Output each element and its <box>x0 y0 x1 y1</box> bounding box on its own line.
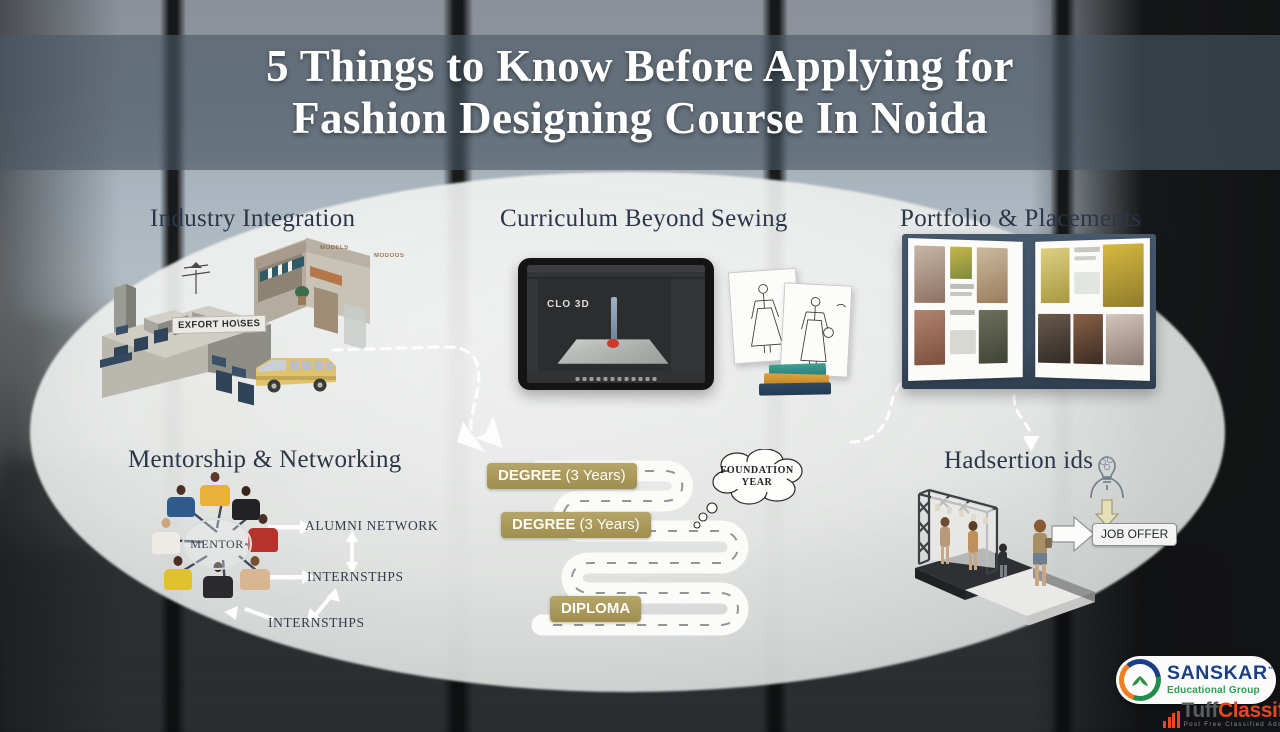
sanskar-leaf-glyph <box>1130 675 1150 687</box>
tuff-wordmark: TuffClassified Post Free Classified Ads … <box>1182 700 1280 728</box>
title-line-1: 5 Things to Know Before Applying for <box>0 40 1280 92</box>
foundation-year-text: FOUNDATION YEAR <box>707 449 807 505</box>
roadmap-label-diploma: DIPLOMA <box>550 596 641 622</box>
bubble-line-2: YEAR <box>742 477 773 489</box>
sanskar-name: SANSKAR™ <box>1167 664 1275 684</box>
title-line-2: Fashion Designing Course In Noida <box>0 92 1280 144</box>
section-heading-industry-integration: Industry Integration <box>150 205 355 233</box>
fashion-runway-illustration <box>905 460 1120 625</box>
sanskar-emblem-icon <box>1119 659 1161 701</box>
network-avatar <box>240 556 270 590</box>
portfolio-book <box>902 234 1156 389</box>
tuff-name-part-1: Tuff <box>1182 699 1218 722</box>
section-heading-mentorship-networking: Mentorship & Networking <box>128 446 402 474</box>
mentor-node-label: MENTOR <box>190 537 243 552</box>
cad-software-logo: CLO 3D <box>547 299 590 310</box>
sanskar-name-text: SANSKAR <box>1167 662 1268 684</box>
thought-bubble-tail <box>690 502 720 536</box>
section-heading-portfolio-placements: Portfolio & Placements <box>900 205 1141 233</box>
job-offer-badge: JOB OFFER <box>1092 523 1177 546</box>
section-heading-curriculum-beyond-sewing: Curriculum Beyond Sewing <box>500 205 788 233</box>
page-title: 5 Things to Know Before Applying for Fas… <box>0 40 1280 144</box>
book-navy <box>759 382 831 395</box>
sanskar-educational-group-logo: SANSKAR™ Educational Group <box>1116 656 1276 704</box>
roadmap-label-degree-1: DEGREE (3 Years) <box>487 463 637 489</box>
tablet-screen: CLO 3D <box>527 265 705 383</box>
tablet-device: CLO 3D <box>518 258 714 390</box>
portfolio-page-left <box>908 238 1023 381</box>
network-avatar <box>164 556 192 590</box>
foundation-year-thought-bubble: FOUNDATION YEAR <box>707 449 807 505</box>
mentor-node: MENTOR <box>182 518 252 570</box>
network-avatar <box>248 514 278 552</box>
network-avatar <box>167 485 195 517</box>
roadmap-label-degree-1-bold: DEGREE <box>498 467 561 484</box>
roadmap-label-diploma-bold: DIPLOMA <box>561 600 630 617</box>
tablet-taskbar-icons <box>576 377 657 381</box>
network-avatar <box>152 518 180 554</box>
roadmap-label-degree-1-duration: (3 Years) <box>561 467 625 484</box>
network-label-internships-1: INTERNSTHPS <box>307 569 404 585</box>
roadmap-label-degree-2-duration: (3 Years) <box>575 516 639 533</box>
tuff-name: TuffClassified <box>1182 700 1280 721</box>
section-heading-placement-aids: Hadsertion ids <box>944 447 1093 475</box>
tuff-name-part-2: Classified <box>1218 699 1280 722</box>
bubble-line-1: FOUNDATION <box>720 465 794 477</box>
factory-signboard-label: EXFORT HO\SES <box>172 315 267 334</box>
shop-signboard-left: MODELS <box>320 245 349 251</box>
portfolio-page-right <box>1035 238 1150 381</box>
network-label-internships-2: INTERNSTHPS <box>268 615 365 631</box>
network-label-alumni-network: ALUMNI NETWORK <box>305 518 438 534</box>
network-avatar <box>200 472 230 506</box>
infographic-canvas: 5 Things to Know Before Applying for Fas… <box>0 0 1280 732</box>
roadmap-label-degree-2-bold: DEGREE <box>512 516 575 533</box>
roadmap-label-degree-2: DEGREE (3 Years) <box>501 512 651 538</box>
shop-signboard-right: MODOOS <box>374 253 404 259</box>
tuff-bars-icon <box>1163 711 1180 728</box>
tuffclassified-watermark: TuffClassified Post Free Classified Ads … <box>1163 700 1280 728</box>
sanskar-subtitle: Educational Group <box>1167 686 1275 696</box>
tuff-tagline: Post Free Classified Ads Online <box>1182 722 1280 728</box>
sanskar-wordmark: SANSKAR™ Educational Group <box>1167 664 1275 696</box>
